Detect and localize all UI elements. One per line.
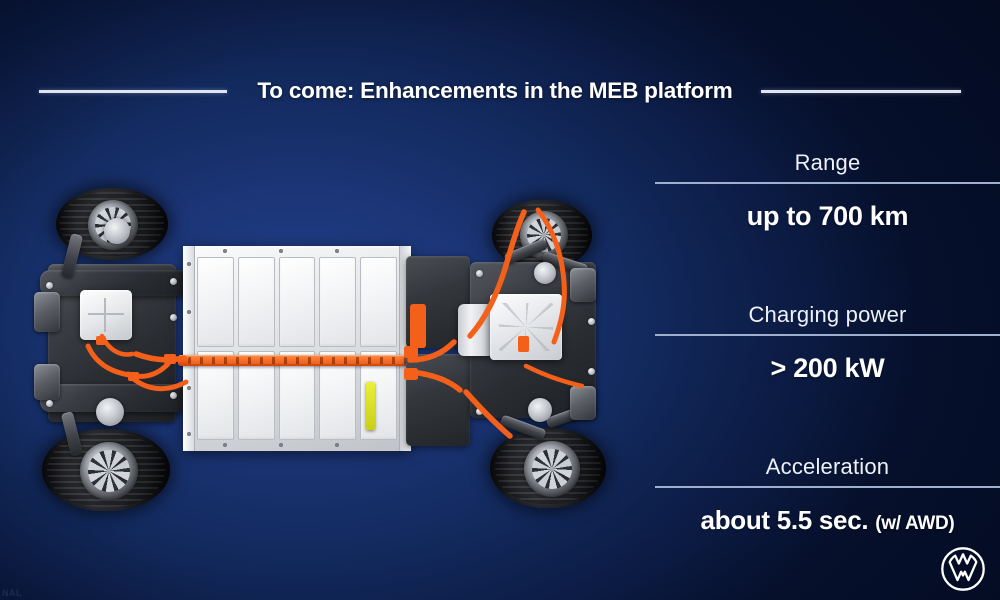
watermark-text: NAL — [2, 588, 22, 598]
spec-acceleration-label: Acceleration — [655, 454, 1000, 486]
hv-junction-block — [410, 304, 426, 348]
spec-acceleration-main: about 5.5 sec. — [701, 505, 869, 535]
hv-connector-battery-lower — [404, 368, 418, 380]
cable-front-to-battery — [136, 354, 184, 360]
hv-connector-front-lower — [128, 372, 139, 381]
spec-acceleration-suffix: (w/ AWD) — [875, 513, 954, 534]
cable-rear-up — [470, 212, 524, 336]
title-rule-left — [39, 90, 227, 93]
spec-panel: Range up to 700 km Charging power > 200 … — [655, 150, 1000, 536]
spec-charging-power: Charging power > 200 kW — [655, 302, 1000, 384]
slide-canvas: To come: Enhancements in the MEB platfor… — [0, 0, 1000, 600]
meb-platform-chassis-illustration — [18, 186, 638, 516]
slide-title-bar: To come: Enhancements in the MEB platfor… — [0, 70, 1000, 112]
spec-acceleration: Acceleration about 5.5 sec. (w/ AWD) — [655, 454, 1000, 536]
cable-rear-down — [466, 392, 510, 436]
spec-range-label: Range — [655, 150, 1000, 182]
spec-range-value: up to 700 km — [655, 184, 1000, 232]
title-rule-right — [761, 90, 961, 93]
spec-charging-power-value: > 200 kW — [655, 336, 1000, 384]
cable-rear-outer — [538, 210, 564, 342]
high-voltage-cable-harness — [18, 186, 638, 516]
spec-acceleration-value: about 5.5 sec. (w/ AWD) — [655, 488, 1000, 536]
cable-front-short — [102, 336, 132, 354]
cable-rear-right — [526, 366, 582, 386]
hv-connector-front — [164, 354, 176, 364]
hv-connector-pe — [96, 336, 106, 345]
hv-connector-drive-unit — [518, 336, 529, 352]
spec-charging-power-label: Charging power — [655, 302, 1000, 334]
page-title: To come: Enhancements in the MEB platfor… — [257, 78, 732, 104]
volkswagen-logo — [940, 546, 986, 592]
spec-range: Range up to 700 km — [655, 150, 1000, 232]
